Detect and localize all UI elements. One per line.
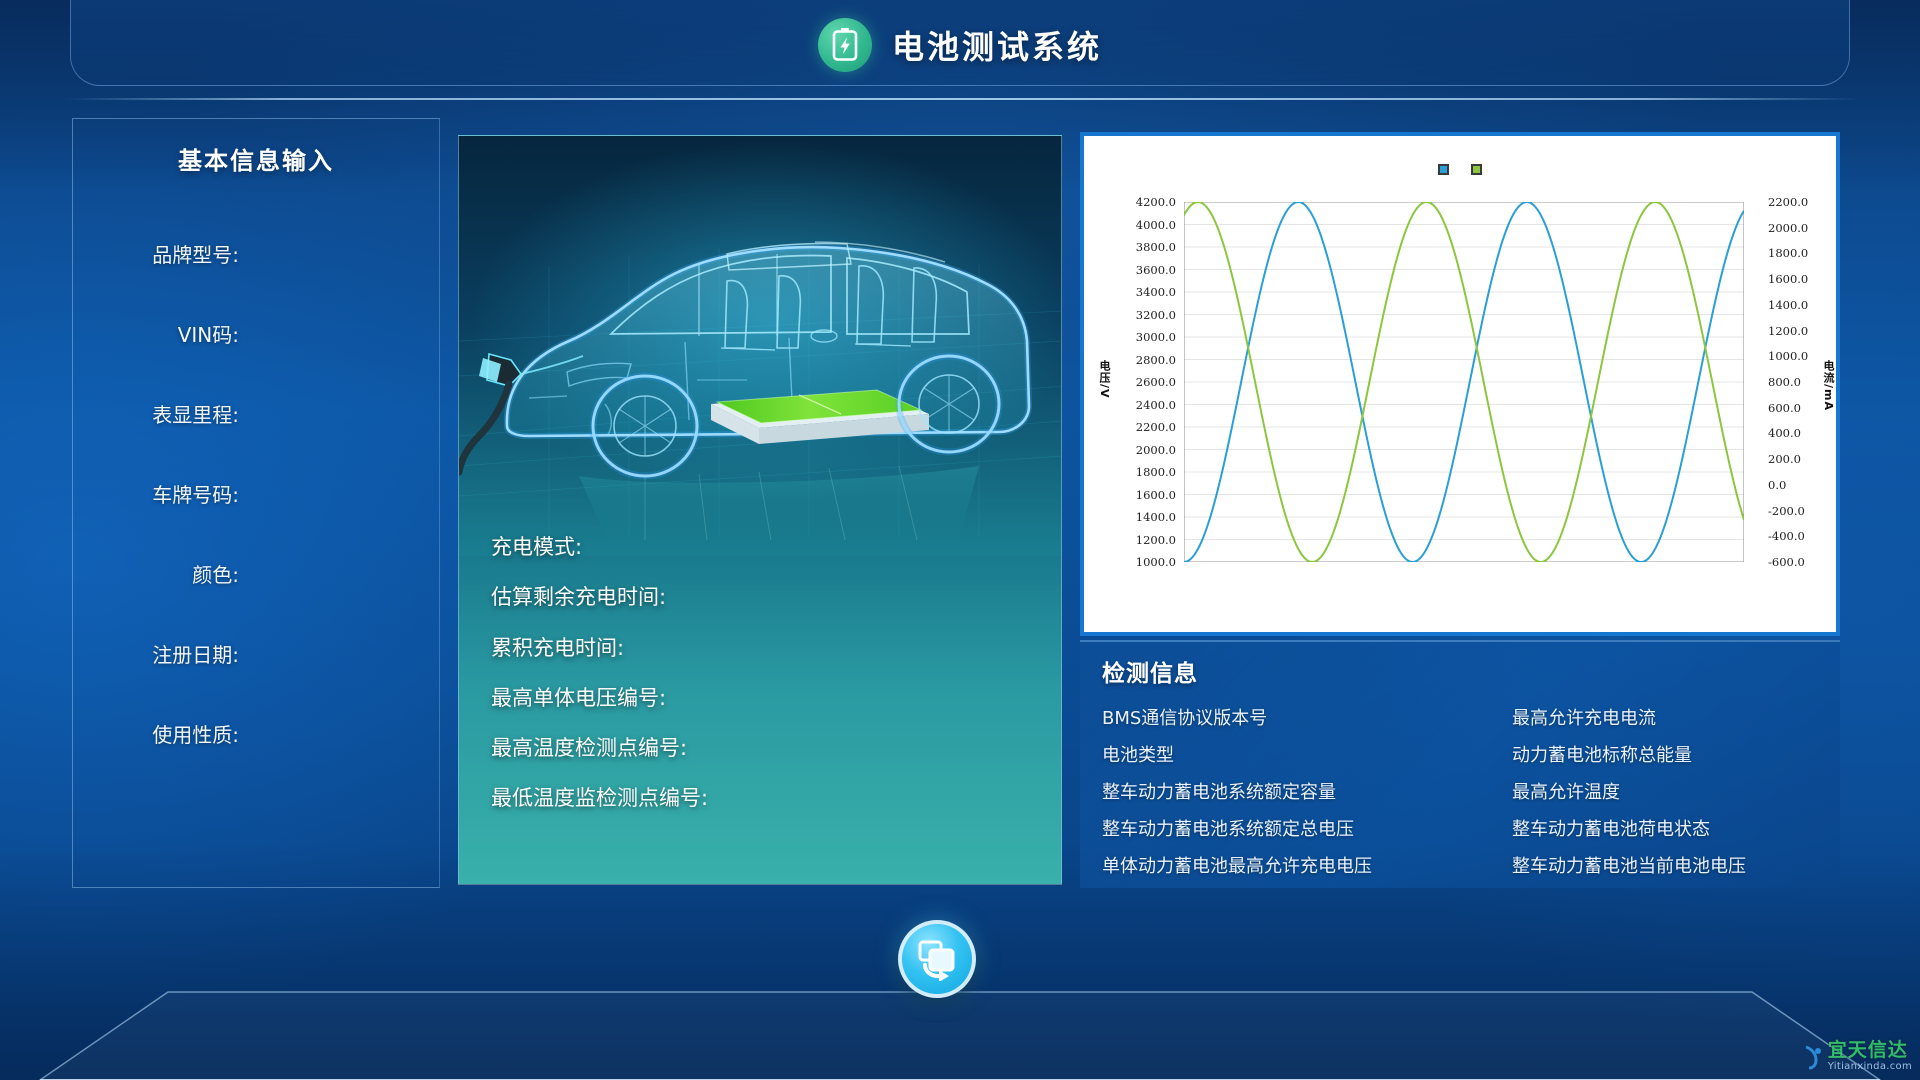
axis-tick-label: 2600.0: [1136, 375, 1176, 389]
detect-label: 整车动力蓄电池系统额定容量: [1102, 782, 1336, 803]
field-label-usage-type: 使用性质:: [152, 723, 239, 747]
axis-tick-label: 1200.0: [1768, 324, 1808, 338]
detect-item-rated-total-voltage[interactable]: 整车动力蓄电池系统额定总电压: [1102, 815, 1354, 841]
axis-tick-label: 0.0: [1768, 478, 1786, 492]
watermark-en: Yitianxinda.com: [1828, 1062, 1912, 1072]
detect-label: 单体动力蓄电池最高允许充电电压: [1102, 856, 1372, 877]
chart-legend: [1084, 164, 1836, 175]
detect-label: 电池类型: [1102, 745, 1174, 766]
info-row-min-temp-probe-id: 最低温度监检测点编号:: [491, 782, 708, 812]
info-label-max-cell-voltage-id: 最高单体电压编号:: [491, 686, 666, 710]
axis-tick-label: 2200.0: [1136, 420, 1176, 434]
info-row-charge-mode: 充电模式:: [491, 531, 582, 561]
vehicle-charging-panel: 充电模式: 估算剩余充电时间: 累积充电时间: 最高单体电压编号: 最高温度检测…: [458, 135, 1062, 885]
field-row-register-date[interactable]: 注册日期:: [0, 639, 239, 668]
header-divider: [66, 98, 1858, 100]
detect-label: 最高允许充电电流: [1512, 708, 1656, 729]
axis-tick-label: 3200.0: [1136, 308, 1176, 322]
detection-info-title: 检测信息: [1102, 654, 1198, 688]
axis-tick-label: 1400.0: [1136, 510, 1176, 524]
detect-label: 整车动力蓄电池当前电池电压: [1512, 856, 1746, 877]
axis-tick-label: 4000.0: [1136, 218, 1176, 232]
info-row-max-temp-probe-id: 最高温度检测点编号:: [491, 732, 687, 762]
watermark: 宜天信达 Yitianxinda.com: [1803, 1041, 1912, 1072]
detect-item-max-cell-charge-voltage[interactable]: 单体动力蓄电池最高允许充电电压: [1102, 852, 1372, 878]
detect-item-nominal-total-energy[interactable]: 动力蓄电池标称总能量: [1512, 741, 1692, 767]
axis-tick-label: 1200.0: [1136, 533, 1176, 547]
field-row-color[interactable]: 颜色:: [0, 559, 239, 588]
page-title: 电池测试系统: [892, 22, 1102, 68]
info-label-min-temp-probe-id: 最低温度监检测点编号:: [491, 786, 708, 810]
detect-item-state-of-charge[interactable]: 整车动力蓄电池荷电状态: [1512, 815, 1710, 841]
detect-label: 最高允许温度: [1512, 782, 1620, 803]
legend-swatch-voltage[interactable]: [1438, 164, 1449, 175]
detect-label: BMS通信协议版本号: [1102, 708, 1267, 729]
detection-info-panel: 检测信息 BMS通信协议版本号 电池类型 整车动力蓄电池系统额定容量 整车动力蓄…: [1080, 640, 1840, 888]
voltage-current-chart: 电压/V 电流/mA 4200.04000.03800.03600.03400.…: [1080, 132, 1840, 636]
car-wireframe-icon: [459, 136, 1062, 556]
info-row-remaining-charge-time: 估算剩余充电时间:: [491, 581, 666, 611]
chart-curves: [1184, 202, 1744, 562]
field-row-usage-type[interactable]: 使用性质:: [0, 719, 239, 748]
info-label-charge-mode: 充电模式:: [491, 535, 582, 559]
detect-item-battery-type[interactable]: 电池类型: [1102, 741, 1174, 767]
app-header: 电池测试系统: [0, 10, 1920, 80]
info-row-total-charge-time: 累积充电时间:: [491, 632, 624, 662]
y-axis-right-title: 电流/mA: [1820, 360, 1836, 411]
detect-label: 整车动力蓄电池荷电状态: [1512, 819, 1710, 840]
detect-item-bms-protocol-version[interactable]: BMS通信协议版本号: [1102, 704, 1267, 730]
axis-tick-label: 1800.0: [1136, 465, 1176, 479]
axis-tick-label: 800.0: [1768, 375, 1801, 389]
screen-switch-icon: [915, 937, 959, 981]
axis-tick-label: 3400.0: [1136, 285, 1176, 299]
axis-tick-label: 200.0: [1768, 452, 1801, 466]
axis-tick-label: 1400.0: [1768, 298, 1808, 312]
axis-tick-label: 1000.0: [1136, 555, 1176, 569]
field-row-brand-model[interactable]: 品牌型号:: [0, 239, 239, 268]
axis-tick-label: -200.0: [1768, 504, 1805, 518]
axis-tick-label: 1600.0: [1768, 272, 1808, 286]
field-label-vin: VIN码:: [178, 323, 239, 347]
info-label-total-charge-time: 累积充电时间:: [491, 636, 624, 660]
field-row-vin[interactable]: VIN码:: [0, 319, 239, 348]
axis-tick-label: 3600.0: [1136, 263, 1176, 277]
axis-tick-label: 1800.0: [1768, 246, 1808, 260]
axis-tick-label: 1600.0: [1136, 488, 1176, 502]
axis-tick-label: 2400.0: [1136, 398, 1176, 412]
axis-tick-label: 4200.0: [1136, 195, 1176, 209]
watermark-logo-icon: [1803, 1044, 1823, 1070]
y-axis-left-title: 电压/V: [1096, 360, 1112, 399]
legend-swatch-current[interactable]: [1471, 164, 1482, 175]
axis-tick-label: 400.0: [1768, 426, 1801, 440]
basic-info-panel: 基本信息输入 品牌型号: VIN码: 表显里程: 车牌号码: 颜色: 注册日期:…: [72, 118, 440, 888]
basic-info-title: 基本信息输入: [73, 141, 439, 176]
axis-tick-label: -600.0: [1768, 555, 1805, 569]
watermark-cn: 宜天信达: [1828, 1041, 1912, 1060]
info-label-max-temp-probe-id: 最高温度检测点编号:: [491, 736, 687, 760]
info-label-remaining-charge-time: 估算剩余充电时间:: [491, 585, 666, 609]
axis-tick-label: -400.0: [1768, 529, 1805, 543]
field-row-plate-number[interactable]: 车牌号码:: [0, 479, 239, 508]
battery-icon: [818, 18, 872, 72]
detect-label: 动力蓄电池标称总能量: [1512, 745, 1692, 766]
axis-tick-label: 3800.0: [1136, 240, 1176, 254]
y-axis-right-ticks: 2200.02000.01800.01600.01400.01200.01000…: [1758, 190, 1814, 610]
detect-item-current-battery-voltage[interactable]: 整车动力蓄电池当前电池电压: [1512, 852, 1746, 878]
axis-tick-label: 2800.0: [1136, 353, 1176, 367]
field-label-register-date: 注册日期:: [152, 643, 239, 667]
axis-tick-label: 1000.0: [1768, 349, 1808, 363]
axis-tick-label: 3000.0: [1136, 330, 1176, 344]
detect-label: 整车动力蓄电池系统额定总电压: [1102, 819, 1354, 840]
axis-tick-label: 2000.0: [1768, 221, 1808, 235]
field-row-odometer[interactable]: 表显里程:: [0, 399, 239, 428]
screen-switch-button[interactable]: [898, 920, 976, 998]
chart-plot-area: 电压/V 电流/mA 4200.04000.03800.03600.03400.…: [1084, 190, 1844, 610]
field-label-color: 颜色:: [192, 563, 239, 587]
watermark-text: 宜天信达 Yitianxinda.com: [1828, 1041, 1912, 1072]
ev-charging-illustration: [459, 136, 1062, 556]
field-label-brand-model: 品牌型号:: [152, 243, 239, 267]
detect-item-rated-capacity[interactable]: 整车动力蓄电池系统额定容量: [1102, 778, 1336, 804]
info-row-max-cell-voltage-id: 最高单体电压编号:: [491, 682, 666, 712]
axis-tick-label: 2000.0: [1136, 443, 1176, 457]
detect-item-max-temperature[interactable]: 最高允许温度: [1512, 778, 1620, 804]
axis-tick-label: 600.0: [1768, 401, 1801, 415]
field-label-plate-number: 车牌号码:: [152, 483, 239, 507]
y-axis-left-ticks: 4200.04000.03800.03600.03400.03200.03000…: [1124, 190, 1180, 610]
axis-tick-label: 2200.0: [1768, 195, 1808, 209]
field-label-odometer: 表显里程:: [152, 403, 239, 427]
detect-item-max-charge-current[interactable]: 最高允许充电电流: [1512, 704, 1656, 730]
